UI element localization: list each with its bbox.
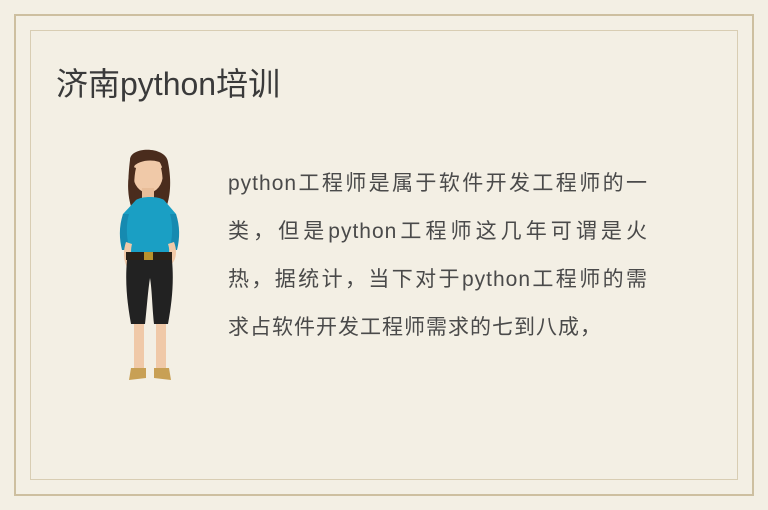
document-page: 济南python培训 xyxy=(0,0,768,510)
woman-standing-icon xyxy=(96,142,206,392)
article-body: python工程师是属于软件开发工程师的一类，但是python工程师这几年可谓是… xyxy=(228,160,648,352)
page-title: 济南python培训 xyxy=(56,62,280,106)
person-illustration xyxy=(96,142,206,392)
